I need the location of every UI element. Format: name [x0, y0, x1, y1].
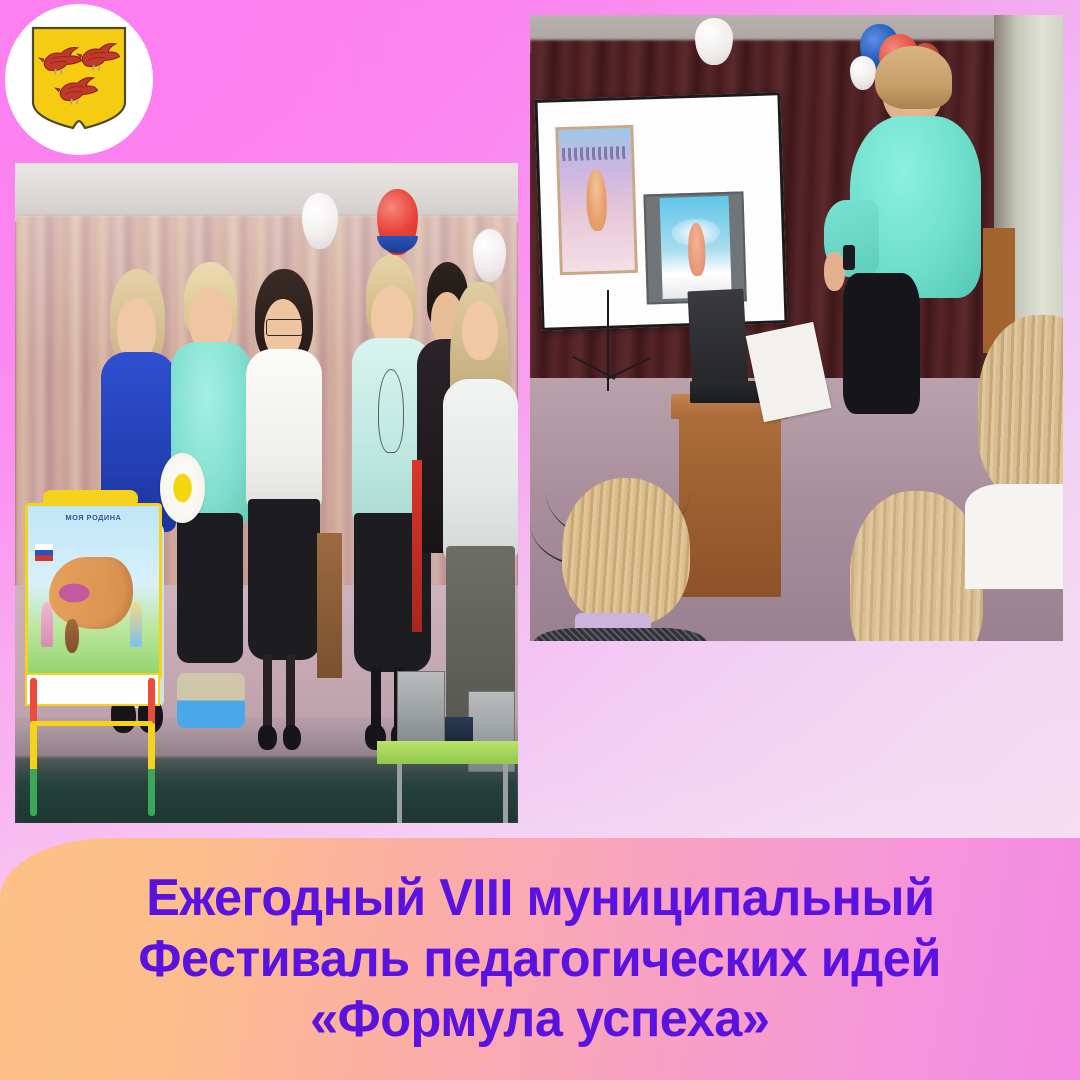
- audience-2-hair: [850, 491, 983, 641]
- teacher-3: [246, 269, 321, 771]
- balloon-white: [302, 193, 338, 249]
- teacher-3-legs: [263, 655, 272, 735]
- audience-1-hair: [562, 478, 690, 624]
- laptop-screen: [687, 289, 748, 392]
- slide-card-title: [562, 147, 627, 162]
- easel-tray: [25, 673, 160, 707]
- caption-line-1: Ежегодный VIII муниципальный: [146, 868, 934, 929]
- audience-member-2: [850, 491, 983, 641]
- teacher-3-shoe-r: [283, 725, 301, 750]
- slide-video-frame: [644, 191, 747, 304]
- teacher-2-skirt: [177, 513, 243, 663]
- teacher-3-glasses: [266, 319, 303, 336]
- podium: [679, 403, 780, 597]
- audience-3-hair: [978, 315, 1063, 499]
- teacher-3-legs-2: [286, 655, 295, 735]
- table-leg-right: [503, 764, 508, 823]
- easel-crossbar: [30, 721, 153, 726]
- slide-video-content: [659, 196, 731, 300]
- table-leg-left: [397, 764, 402, 823]
- audience-3-shirt: [965, 484, 1063, 589]
- caption-banner: Ежегодный VIII муниципальный Фестиваль п…: [0, 838, 1080, 1080]
- teacher-3-blouse: [246, 349, 321, 510]
- equipment-table: [377, 741, 518, 764]
- ceiling: [15, 163, 518, 222]
- slide-doll-figure: [585, 169, 607, 232]
- easel-handle: [43, 490, 139, 503]
- stool: [317, 533, 342, 678]
- easel-poster-title: МОЯ РОДИНА: [28, 513, 159, 522]
- audience-member-3: [978, 315, 1063, 578]
- presenter-watch: [843, 245, 854, 270]
- teacher-3-skirt: [248, 499, 320, 660]
- coat-of-arms-icon: [27, 24, 131, 136]
- teacher-6-blouse: [443, 379, 518, 560]
- coat-of-arms-badge: [5, 4, 153, 155]
- audience-1-jacket: [534, 628, 707, 641]
- photo-teachers-presentation: МОЯ РОДИНА: [15, 163, 518, 823]
- easel-bear: [65, 619, 79, 653]
- projection-screen: [534, 93, 787, 332]
- easel-map-of-russia: [49, 557, 133, 629]
- poster-canvas: МОЯ РОДИНА Ежегодный VIII муниципальный …: [0, 0, 1080, 1080]
- presenter-hand: [824, 252, 845, 291]
- easel-child-left: [41, 602, 53, 647]
- right-photo-scene: [530, 15, 1063, 641]
- teacher-2-shoe-covers: [177, 673, 245, 728]
- easel-leg-left: [30, 678, 37, 817]
- audience-member-1: [562, 478, 690, 641]
- easel-child-right: [130, 602, 142, 647]
- caption-line-2: Фестиваль педагогических идей: [139, 929, 941, 990]
- flower-print-icon: [378, 369, 404, 453]
- teacher-6-head: [462, 301, 498, 360]
- presenter-skirt: [843, 273, 920, 413]
- easel-board: МОЯ РОДИНА: [25, 503, 162, 681]
- photo-presentation-hall: [530, 15, 1063, 641]
- daisy-prop: [160, 453, 205, 523]
- balloon-white: [695, 18, 732, 65]
- easel-leg-right: [148, 678, 155, 817]
- presenter-hair: [875, 46, 952, 109]
- slide-card: [555, 125, 638, 275]
- caption-line-3: «Формула успеха»: [310, 989, 769, 1050]
- red-pole: [412, 460, 422, 632]
- left-photo-scene: МОЯ РОДИНА: [15, 163, 518, 823]
- easel-flag-icon: [35, 544, 53, 561]
- teacher-3-shoe-l: [258, 725, 276, 750]
- teacher-2: [171, 262, 251, 764]
